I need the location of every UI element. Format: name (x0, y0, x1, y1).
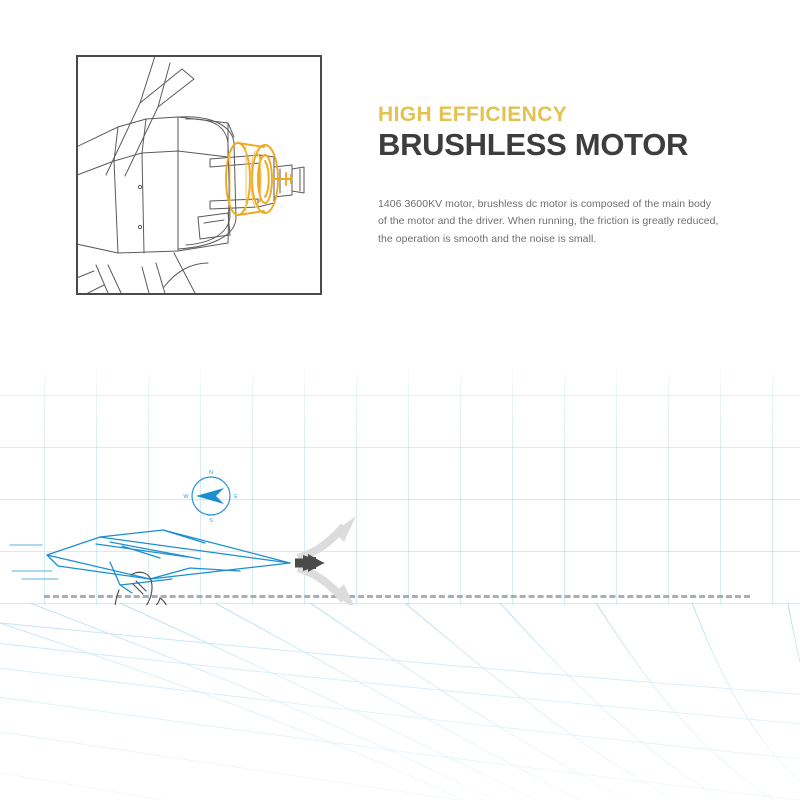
motor-copy-block: HIGH EFFICIENCY BRUSHLESS MOTOR 1406 360… (378, 104, 768, 248)
brushless-motor-line-art (78, 57, 322, 295)
motor-kicker: HIGH EFFICIENCY (378, 104, 768, 126)
blueprint-section: N S W E (0, 355, 800, 800)
motor-description-line: 1406 3600KV motor, brushless dc motor is… (378, 196, 768, 213)
motor-description-line: the operation is smooth and the noise is… (378, 231, 768, 248)
flying-gliders-illustration (0, 355, 800, 800)
motor-headline: BRUSHLESS MOTOR (378, 128, 768, 162)
product-feature-page: HIGH EFFICIENCY BRUSHLESS MOTOR 1406 360… (0, 0, 800, 800)
motor-description-line: of the motor and the driver. When runnin… (378, 213, 768, 230)
motor-description: 1406 3600KV motor, brushless dc motor is… (378, 162, 768, 248)
brushless-motor-section: HIGH EFFICIENCY BRUSHLESS MOTOR 1406 360… (0, 0, 800, 370)
motor-illustration-frame (76, 55, 322, 295)
